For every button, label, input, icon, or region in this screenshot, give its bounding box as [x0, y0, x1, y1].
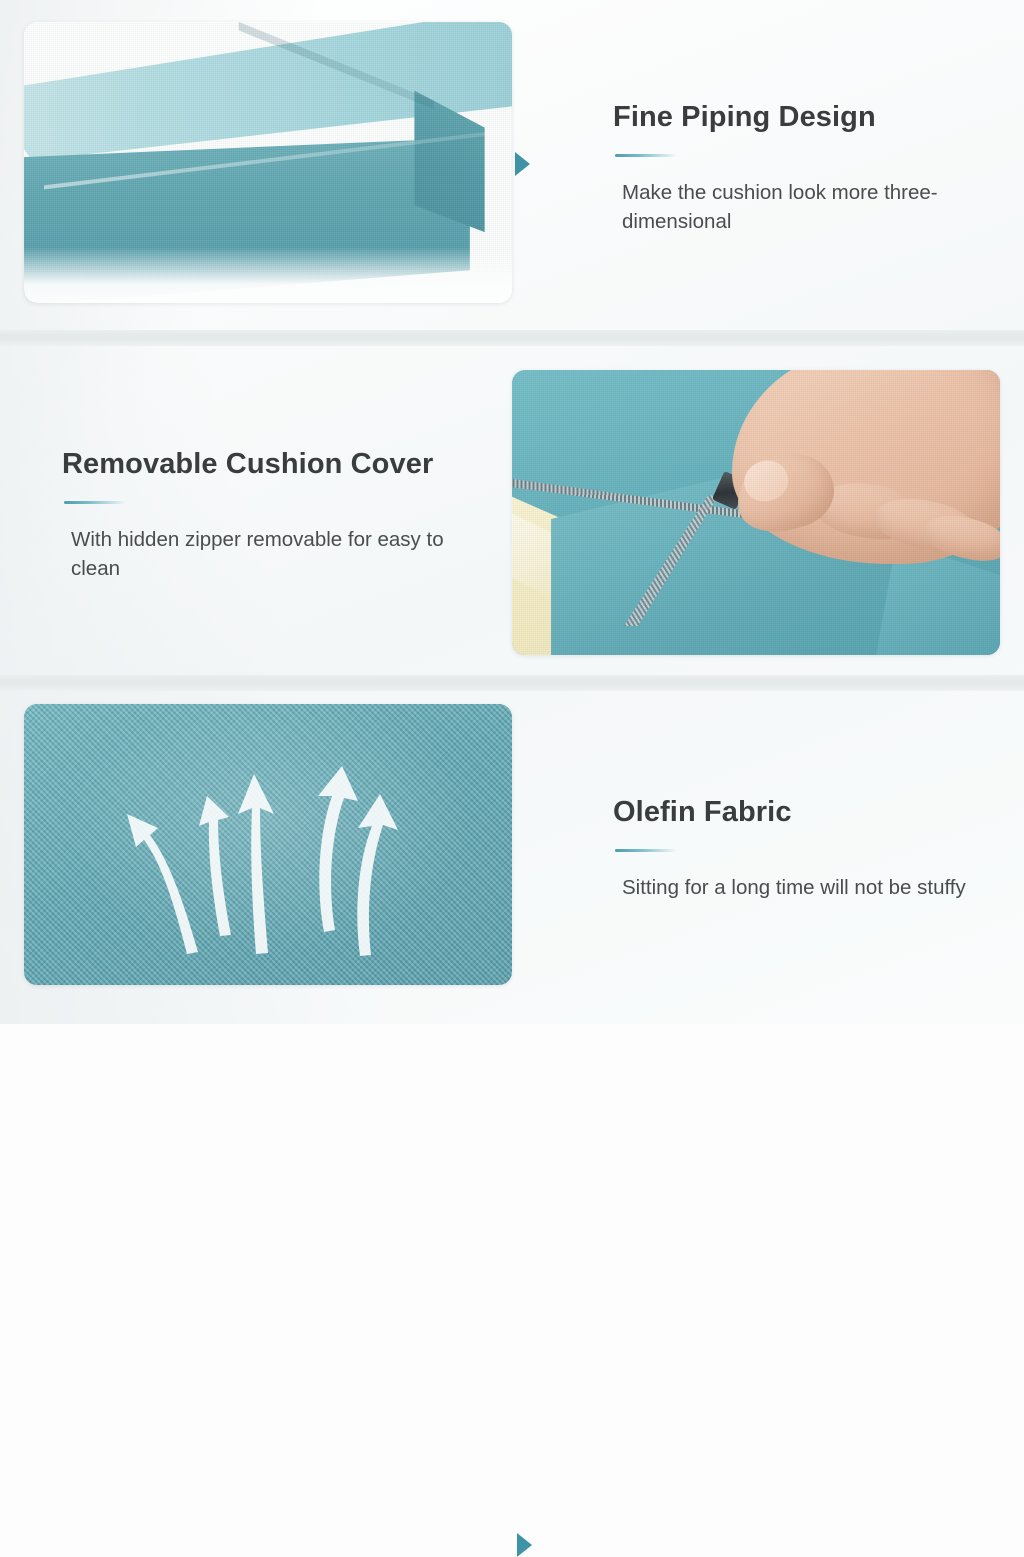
triangle-right-icon — [515, 152, 530, 176]
feature-heading: Olefin Fabric — [613, 795, 983, 830]
feature-section-olefin-fabric: Olefin Fabric Sitting for a long time wi… — [0, 690, 1024, 1024]
feature-text-fine-piping-design: Fine Piping Design Make the cushion look… — [613, 100, 983, 236]
hand-opening-hidden-zipper-photo — [512, 370, 1000, 655]
cushion-corner-piping-photo — [24, 22, 512, 303]
feature-description: Sitting for a long time will not be stuf… — [622, 873, 983, 902]
fabric-weave-texture — [512, 370, 1000, 655]
airflow-arrow-icon — [199, 796, 231, 936]
photo-bottom-fade — [24, 247, 512, 303]
section-divider — [0, 330, 1024, 346]
airflow-arrow-icon — [238, 774, 274, 954]
feature-description: Make the cushion look more three-dimensi… — [622, 178, 983, 236]
accent-underline — [615, 849, 677, 852]
feature-heading: Fine Piping Design — [613, 100, 983, 135]
airflow-arrow-icon — [318, 766, 358, 932]
feature-text-olefin-fabric: Olefin Fabric Sitting for a long time wi… — [613, 795, 983, 902]
breathable-olefin-weave-airflow-photo — [24, 704, 512, 985]
triangle-right-icon — [517, 1533, 532, 1557]
feature-heading: Removable Cushion Cover — [62, 447, 472, 482]
feature-text-removable-cushion-cover: Removable Cushion Cover With hidden zipp… — [62, 447, 472, 583]
section-divider — [0, 675, 1024, 691]
airflow-arrow-icon — [127, 814, 198, 954]
feature-description: With hidden zipper removable for easy to… — [71, 525, 472, 583]
feature-section-fine-piping-design: Fine Piping Design Make the cushion look… — [0, 0, 1024, 332]
airflow-arrow-icon — [357, 794, 398, 956]
accent-underline — [64, 501, 126, 504]
airflow-arrows-group — [24, 704, 512, 985]
feature-section-removable-cushion-cover: Removable Cushion Cover With hidden zipp… — [0, 345, 1024, 675]
accent-underline — [615, 154, 677, 157]
